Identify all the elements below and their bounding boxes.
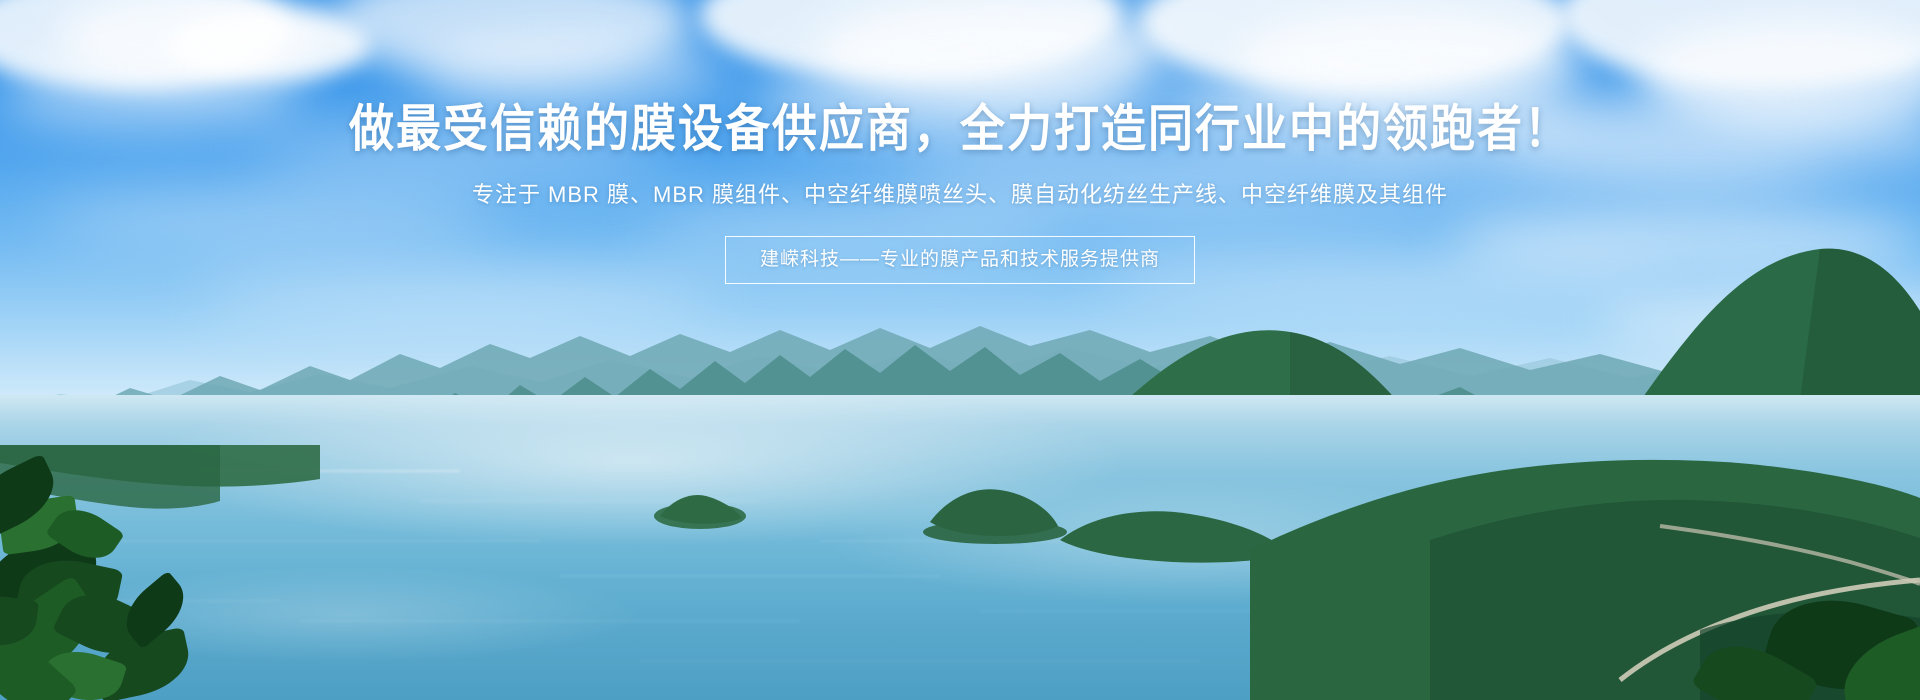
banner-tagline-box: 建嵘科技——专业的膜产品和技术服务提供商 (725, 236, 1195, 284)
banner-headline: 做最受信赖的膜设备供应商，全力打造同行业中的领跑者！ (349, 100, 1571, 158)
shoreline-left (0, 445, 1920, 555)
banner-subheadline: 专注于 MBR 膜、MBR 膜组件、中空纤维膜喷丝头、膜自动化纺丝生产线、中空纤… (472, 180, 1448, 210)
hero-banner: 做最受信赖的膜设备供应商，全力打造同行业中的领跑者！ 专注于 MBR 膜、MBR… (0, 0, 1920, 700)
